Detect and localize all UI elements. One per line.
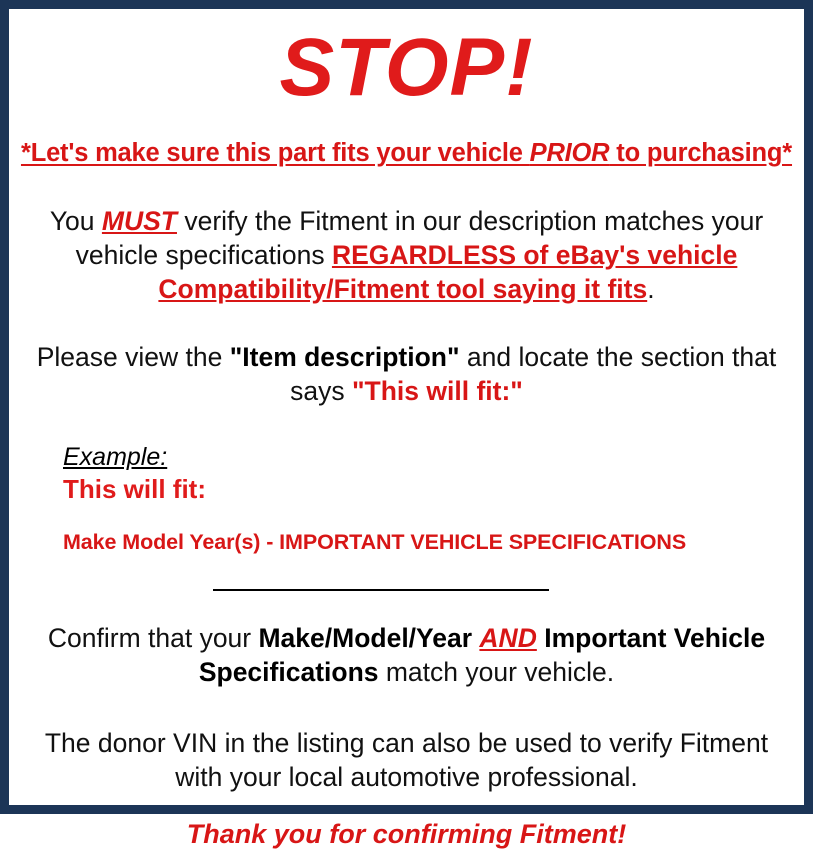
must-part3: . bbox=[647, 274, 654, 304]
fitment-notice-frame: STOP! *Let's make sure this part fits yo… bbox=[0, 0, 813, 814]
example-block: Example: This will fit: Make Model Year(… bbox=[17, 444, 796, 555]
example-label: Example: bbox=[63, 444, 167, 472]
confirm-and-emphasis: AND bbox=[479, 623, 536, 653]
horizontal-rule-divider bbox=[213, 589, 549, 591]
tagline-emphasis-prior: PRIOR bbox=[530, 139, 610, 167]
example-label-row: Example: bbox=[63, 444, 796, 472]
divider-wrap bbox=[17, 578, 796, 596]
must-verify-paragraph: You MUST verify the Fitment in our descr… bbox=[17, 205, 796, 306]
item-description-paragraph: Please view the "Item description" and l… bbox=[17, 341, 796, 408]
confirm-make-model-year: Make/Model/Year bbox=[258, 623, 479, 653]
tagline: *Let's make sure this part fits your veh… bbox=[17, 139, 796, 168]
must-emphasis: MUST bbox=[102, 206, 177, 236]
example-spec-line: Make Model Year(s) - IMPORTANT VEHICLE S… bbox=[63, 530, 796, 556]
this-will-fit-emphasis: "This will fit:" bbox=[352, 376, 523, 406]
must-part1: You bbox=[50, 206, 102, 236]
donor-vin-paragraph: The donor VIN in the listing can also be… bbox=[17, 727, 796, 794]
example-fit-line: This will fit: bbox=[63, 474, 796, 504]
confirm-paragraph: Confirm that your Make/Model/Year AND Im… bbox=[17, 622, 796, 689]
stop-headline: STOP! bbox=[17, 25, 796, 112]
tagline-prefix: *Let's make sure this part fits your veh… bbox=[21, 139, 530, 167]
fitment-notice-body: STOP! *Let's make sure this part fits yo… bbox=[17, 9, 796, 805]
tagline-suffix: to purchasing* bbox=[609, 139, 792, 167]
thank-you-line: Thank you for confirming Fitment! bbox=[17, 818, 796, 850]
itemdesc-part1: Please view the bbox=[37, 342, 230, 372]
itemdesc-emphasis: "Item description" bbox=[230, 342, 460, 372]
confirm-part1: Confirm that your bbox=[48, 623, 259, 653]
confirm-part2: match your vehicle. bbox=[379, 657, 615, 687]
